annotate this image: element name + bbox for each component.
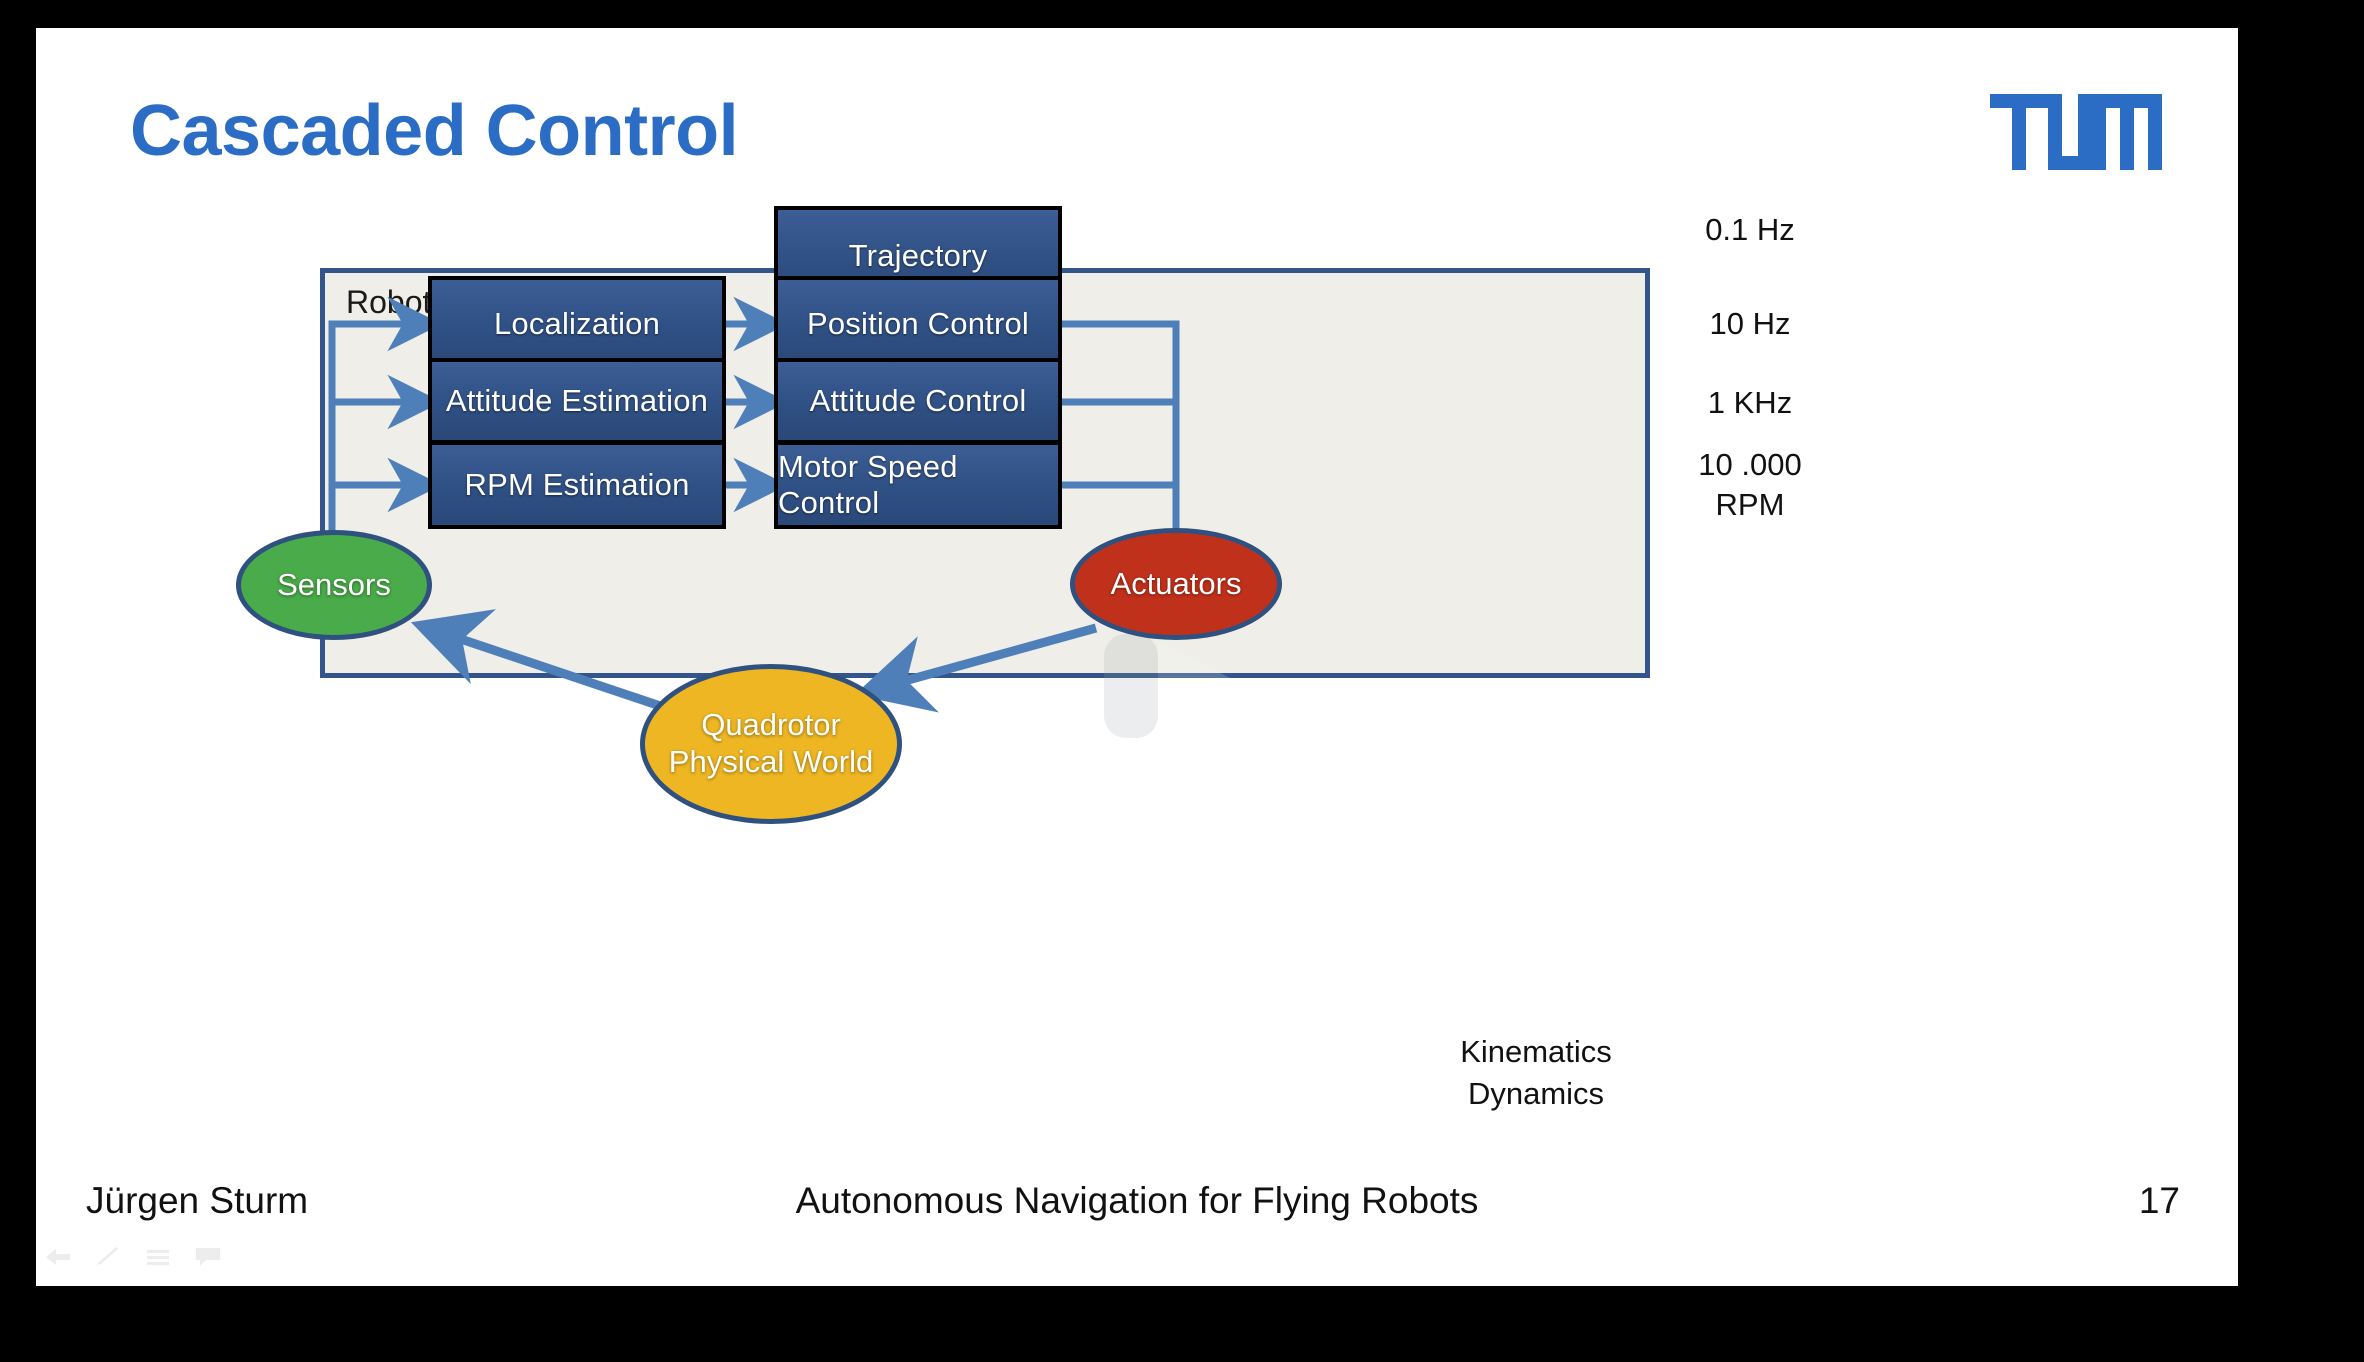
robot-label: Robot: [346, 284, 431, 321]
page-title: Cascaded Control: [130, 90, 738, 172]
block-attitude-estimation[interactable]: Attitude Estimation: [428, 358, 726, 444]
block-rpm-estimation[interactable]: RPM Estimation: [428, 441, 726, 529]
ellipse-quadrotor[interactable]: Quadrotor Physical World: [640, 664, 902, 824]
rate-label-trajectory: 0.1 Hz: [1660, 211, 1840, 248]
rate-label-motor-line2: RPM: [1660, 486, 1840, 523]
annotation-line1: Kinematics: [1416, 1031, 1656, 1073]
block-label: Trajectory: [849, 238, 988, 274]
ellipse-label-line1: Quadrotor: [701, 707, 841, 744]
block-label: RPM Estimation: [464, 467, 689, 503]
pen-icon[interactable]: [94, 1246, 122, 1268]
viewer-controls[interactable]: [44, 1246, 222, 1268]
slide-frame: Cascaded Control Robot: [36, 28, 2238, 1286]
annotation-line2: Dynamics: [1416, 1073, 1656, 1115]
block-label: Position Control: [807, 306, 1029, 342]
rate-label-position: 10 Hz: [1660, 305, 1840, 342]
ellipse-label-line2: Physical World: [669, 744, 873, 781]
ellipse-label: Actuators: [1111, 566, 1242, 603]
rate-label-attitude: 1 KHz: [1660, 384, 1840, 421]
tum-logo: [1990, 94, 2162, 170]
ellipse-sensors[interactable]: Sensors: [236, 530, 432, 640]
block-label: Localization: [494, 306, 660, 342]
footer-course-title: Autonomous Navigation for Flying Robots: [36, 1180, 2238, 1222]
menu-icon[interactable]: [144, 1246, 172, 1268]
block-label: Attitude Control: [810, 383, 1027, 419]
footer-page-number: 17: [2139, 1180, 2180, 1222]
ellipse-label: Sensors: [277, 567, 391, 604]
rate-label-motor-line1: 10 .000: [1660, 446, 1840, 483]
block-motor-speed-control[interactable]: Motor Speed Control: [774, 441, 1062, 529]
annotation-kinematics-dynamics: Kinematics Dynamics: [1416, 1031, 1656, 1116]
comment-icon[interactable]: [194, 1246, 222, 1268]
block-label: Motor Speed Control: [778, 449, 1058, 521]
block-attitude-control[interactable]: Attitude Control: [774, 358, 1062, 444]
block-label: Attitude Estimation: [446, 383, 708, 419]
ellipse-actuators[interactable]: Actuators: [1070, 528, 1282, 640]
back-arrow-icon[interactable]: [44, 1246, 72, 1268]
